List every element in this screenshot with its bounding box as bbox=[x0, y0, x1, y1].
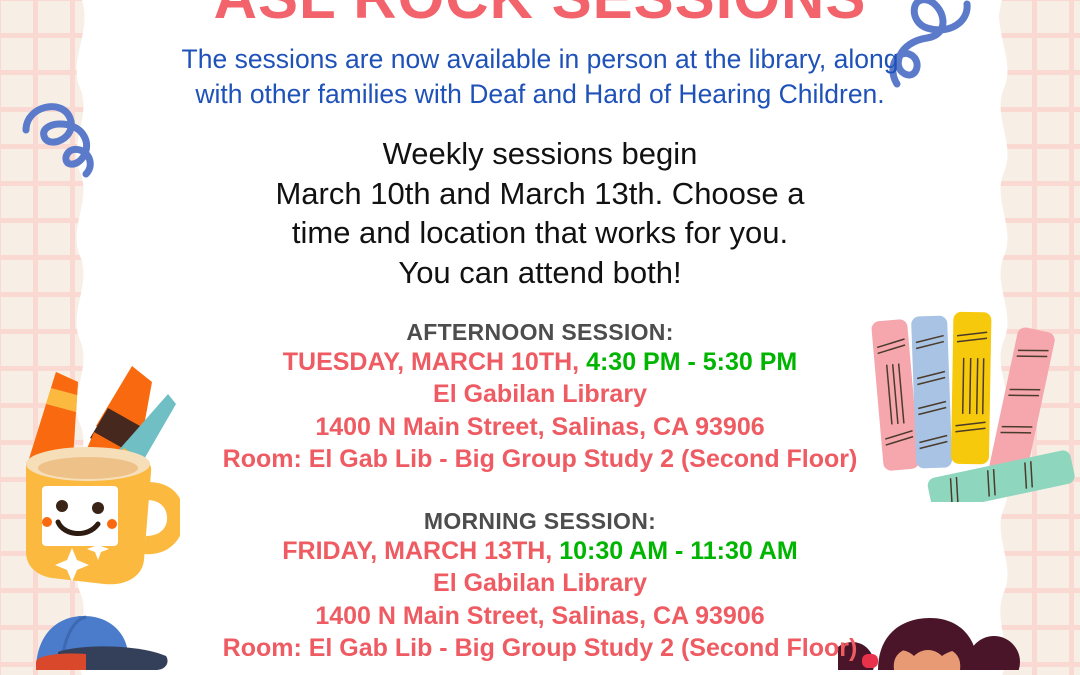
session-venue: El Gabilan Library bbox=[223, 378, 858, 411]
poster-subtitle: The sessions are now available in person… bbox=[170, 42, 910, 112]
session-room: Room: El Gab Lib - Big Group Study 2 (Se… bbox=[223, 443, 858, 476]
poster-title: ASL ROCK SESSIONS bbox=[214, 0, 867, 28]
session-heading: AFTERNOON SESSION: bbox=[223, 319, 858, 346]
session-date: FRIDAY, MARCH 13TH, bbox=[282, 537, 552, 565]
lede-line: March 10th and March 13th. Choose a bbox=[275, 174, 804, 214]
session-datetime: FRIDAY, MARCH 13TH, 10:30 AM - 11:30 AM bbox=[223, 535, 858, 568]
session-address: 1400 N Main Street, Salinas, CA 93906 bbox=[223, 600, 858, 633]
session-datetime: TUESDAY, MARCH 10TH, 4:30 PM - 5:30 PM bbox=[223, 346, 858, 379]
session-time: 10:30 AM - 11:30 AM bbox=[559, 537, 798, 565]
session-address: 1400 N Main Street, Salinas, CA 93906 bbox=[223, 411, 858, 444]
session-time: 4:30 PM - 5:30 PM bbox=[586, 348, 797, 376]
poster-lede: Weekly sessions begin March 10th and Mar… bbox=[275, 134, 804, 293]
morning-session-block: MORNING SESSION: FRIDAY, MARCH 13TH, 10:… bbox=[223, 508, 858, 665]
poster-content: ASL ROCK SESSIONS The sessions are now a… bbox=[0, 0, 1080, 675]
lede-line: You can attend both! bbox=[275, 253, 804, 293]
session-venue: El Gabilan Library bbox=[223, 567, 858, 600]
session-heading: MORNING SESSION: bbox=[223, 508, 858, 535]
session-date: TUESDAY, MARCH 10TH, bbox=[283, 348, 579, 376]
lede-line: Weekly sessions begin bbox=[275, 134, 804, 174]
afternoon-session-block: AFTERNOON SESSION: TUESDAY, MARCH 10TH, … bbox=[223, 319, 858, 476]
session-room: Room: El Gab Lib - Big Group Study 2 (Se… bbox=[223, 632, 858, 665]
lede-line: time and location that works for you. bbox=[275, 213, 804, 253]
